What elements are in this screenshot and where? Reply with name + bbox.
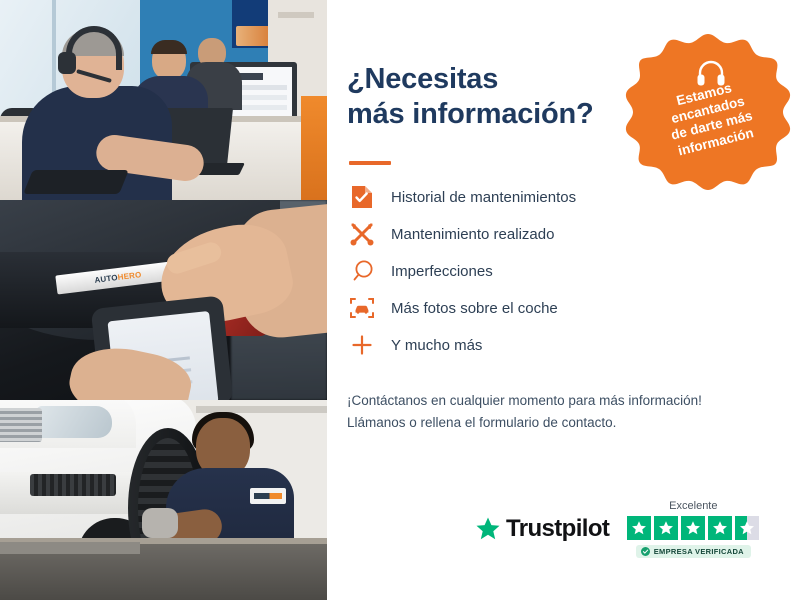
- tools-cross-icon: [347, 219, 377, 249]
- headline-line-1: ¿Necesitas: [347, 63, 498, 95]
- mechanic-tire-photo: [0, 400, 327, 600]
- feature-list: Historial de mantenimientos Mantenimient…: [347, 179, 799, 364]
- contact-text: ¡Contáctanos en cualquier momento para m…: [347, 390, 799, 434]
- contact-line-1: ¡Contáctanos en cualquier momento para m…: [347, 393, 702, 408]
- feature-label: Mantenimiento realizado: [391, 226, 554, 243]
- star-icon: [627, 516, 651, 540]
- page-title: ¿Necesitas más información?: [347, 62, 647, 133]
- accent-divider: [349, 161, 391, 165]
- trustpilot-star-icon: [475, 516, 501, 542]
- document-check-icon: [347, 182, 377, 212]
- information-banner: AUTOHERO ¿Necesitas más información?: [0, 0, 799, 600]
- call-center-agent-photo: [0, 0, 327, 200]
- list-item: Y mucho más: [347, 327, 799, 364]
- feature-label: Imperfecciones: [391, 263, 493, 280]
- photo-column: AUTOHERO: [0, 0, 327, 600]
- list-item: Mantenimiento realizado: [347, 216, 799, 253]
- star-rating: [627, 516, 759, 540]
- check-circle-icon: [641, 547, 650, 556]
- rating-label: Excelente: [669, 500, 717, 512]
- star-icon: [654, 516, 678, 540]
- star-icon: [681, 516, 705, 540]
- trustpilot-logo: Trustpilot: [475, 515, 609, 543]
- verified-label: EMPRESA VERIFICADA: [654, 547, 744, 556]
- trustpilot-wordmark: Trustpilot: [506, 515, 609, 543]
- contact-line-2: Llámanos o rellena el formulario de cont…: [347, 415, 616, 430]
- headline-line-2: más información?: [347, 98, 594, 130]
- star-icon: [708, 516, 732, 540]
- car-frame-icon: [347, 293, 377, 323]
- feature-label: Y mucho más: [391, 337, 482, 354]
- status-badge: EMPRESA VERIFICADA: [636, 545, 751, 558]
- support-badge: Estamos encantados de darte más informac…: [624, 32, 792, 198]
- feature-label: Más fotos sobre el coche: [391, 300, 558, 317]
- car-inspection-photo: AUTOHERO: [0, 200, 327, 400]
- list-item: Más fotos sobre el coche: [347, 290, 799, 327]
- plus-icon: [347, 330, 377, 360]
- list-item: Imperfecciones: [347, 253, 799, 290]
- magnifier-icon: [347, 256, 377, 286]
- star-half-icon: [735, 516, 759, 540]
- trustpilot-widget[interactable]: Trustpilot Excelente: [475, 500, 759, 558]
- feature-label: Historial de mantenimientos: [391, 189, 576, 206]
